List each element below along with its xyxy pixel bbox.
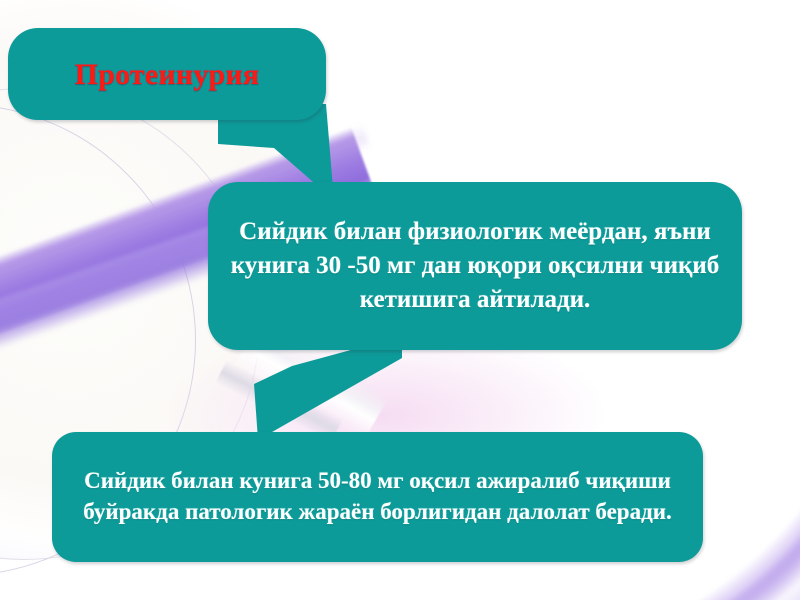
slide-canvas: Протеинурия Сийдик билан физиологик меёр… <box>0 0 800 600</box>
pathology-text: Сийдик билан кунига 50-80 мг оқсил ажира… <box>68 466 687 528</box>
title-speech-bubble[interactable]: Протеинурия <box>8 28 326 120</box>
pathology-speech-bubble[interactable]: Сийдик билан кунига 50-80 мг оқсил ажира… <box>52 432 703 562</box>
definition-text: Сийдик билан физиологик меёрдан, яъни ку… <box>226 215 724 317</box>
background-sliver-secondary <box>215 360 343 442</box>
title-text: Протеинурия <box>8 55 326 94</box>
definition-speech-bubble[interactable]: Сийдик билан физиологик меёрдан, яъни ку… <box>208 182 742 350</box>
